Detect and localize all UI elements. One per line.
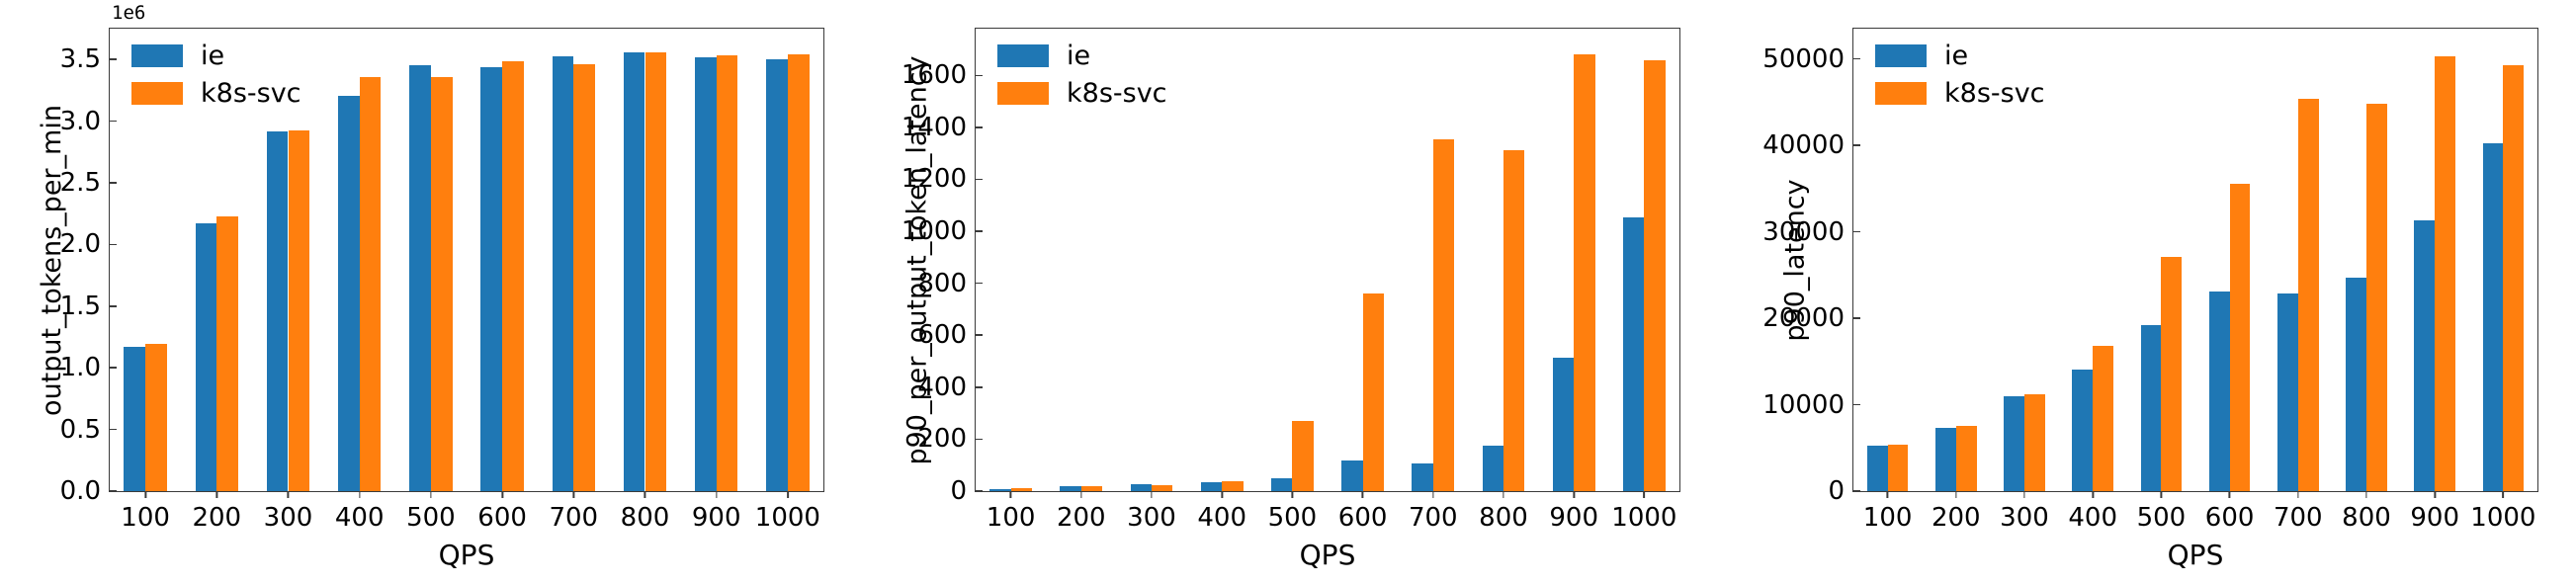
bar-ie-200 [1935,428,1956,491]
x-axis-tick: 300 [2000,491,2049,533]
bar-k8s-svc-700 [1433,139,1454,491]
bar-ie-200 [1060,486,1080,491]
x-axis-tick-mark [215,491,217,498]
legend-item-k8s-svc[interactable]: k8s-svc [131,80,301,107]
bar-ie-600 [2209,292,2230,491]
bar-k8s-svc-800 [2366,104,2387,491]
x-axis-tick-mark [1573,491,1575,498]
x-axis-tick-mark [572,491,574,498]
y-axis-tick: 50000 [1762,44,1853,74]
axes-frame: 0200400600800100012001400160010020030040… [975,28,1680,492]
x-axis-tick: 200 [192,491,241,533]
y-axis-tick: 2.0 [60,229,110,259]
bar-k8s-svc-200 [1081,486,1102,491]
y-axis-tick-label: 0 [950,476,976,506]
y-axis-tick: 1000 [902,216,976,246]
chart-panel-3: p90_latency01000020000300004000050000100… [1716,0,2574,585]
y-axis-tick-label: 200 [917,424,976,454]
y-axis-tick-label: 800 [917,269,976,298]
bar-ie-400 [1201,482,1222,491]
bar-k8s-svc-1000 [788,54,810,491]
x-axis-tick-label: 400 [1197,503,1246,533]
x-axis-tick: 1000 [1611,491,1676,533]
legend-swatch-icon [131,82,183,105]
bar-ie-700 [2277,293,2298,491]
x-axis-tick-label: 300 [1127,503,1176,533]
bar-k8s-svc-700 [2298,99,2319,491]
x-axis-tick-mark [787,491,789,498]
legend-swatch-icon [1875,82,1927,105]
x-axis-tick-mark [1887,491,1889,498]
bar-k8s-svc-100 [1888,445,1909,491]
x-axis-tick: 100 [121,491,170,533]
legend-item-ie[interactable]: ie [131,42,301,69]
x-axis-tick-mark [1221,491,1223,498]
y-axis-tick-label: 1600 [902,60,976,90]
x-axis-tick-mark [644,491,646,498]
bar-ie-800 [2346,278,2366,492]
axes-frame: 1e60.00.51.01.52.02.53.03.51002003004005… [109,28,824,492]
bar-k8s-svc-400 [360,77,382,491]
legend-label: ie [1067,42,1090,69]
legend-label: k8s-svc [1944,80,2045,107]
x-axis-tick-mark [430,491,432,498]
x-axis-tick: 800 [2342,491,2391,533]
y-axis-tick-label: 2.0 [60,229,110,259]
x-axis-tick-mark [359,491,361,498]
y-axis-offset-text: 1e6 [112,2,145,24]
legend-label: k8s-svc [1067,80,1167,107]
legend[interactable]: iek8s-svc [997,42,1167,107]
x-axis-tick: 400 [1197,491,1246,533]
x-axis-tick: 500 [2137,491,2187,533]
y-axis-tick-label: 600 [917,320,976,350]
x-axis-tick-mark [1292,491,1294,498]
chart-panel-1: output_tokens_per_min1e60.00.51.01.52.02… [0,0,858,585]
y-axis-tick: 1600 [902,60,976,90]
plot-area: 1e60.00.51.01.52.02.53.03.51002003004005… [109,28,824,492]
plot-area: 0100002000030000400005000010020030040050… [1852,28,2538,492]
x-axis-tick-mark [716,491,718,498]
x-axis-tick-label: 800 [1479,503,1528,533]
bar-k8s-svc-200 [216,216,238,491]
bar-k8s-svc-500 [2161,257,2182,491]
x-axis-tick: 900 [692,491,741,533]
legend-item-ie[interactable]: ie [997,42,1167,69]
bar-k8s-svc-1000 [1644,60,1665,491]
plot-area: 0200400600800100012001400160010020030040… [975,28,1680,492]
bar-ie-600 [1341,460,1362,491]
legend-label: ie [201,42,224,69]
x-axis-tick-mark [2229,491,2231,498]
bar-k8s-svc-800 [1503,150,1524,491]
x-axis-tick: 300 [1127,491,1176,533]
x-axis-tick-label: 600 [2205,503,2255,533]
x-axis-tick: 200 [1932,491,1981,533]
bar-k8s-svc-800 [645,52,667,491]
legend-swatch-icon [997,82,1049,105]
bar-k8s-svc-100 [1011,488,1032,491]
legend-swatch-icon [997,44,1049,67]
x-axis-tick-label: 900 [692,503,741,533]
y-axis-tick-label: 1.5 [60,292,110,321]
bar-k8s-svc-300 [2024,394,2045,491]
bar-k8s-svc-500 [431,77,453,491]
y-axis-tick-label: 30000 [1762,217,1853,247]
y-axis-label: p90_latency [1775,28,1815,492]
y-axis-label: p90_per_output_token_latency [898,28,937,492]
y-axis-tick: 30000 [1762,217,1853,247]
x-axis-tick-label: 100 [987,503,1036,533]
y-axis-tick: 0.0 [60,476,110,506]
x-axis-tick-mark [2161,491,2163,498]
y-axis-tick-label: 3.0 [60,107,110,136]
y-axis-tick: 10000 [1762,390,1853,420]
bar-ie-900 [695,57,717,491]
x-axis-tick: 700 [1409,491,1458,533]
x-axis-tick: 600 [477,491,527,533]
x-axis-tick-label: 700 [1409,503,1458,533]
y-axis-tick: 20000 [1762,303,1853,333]
x-axis-tick-mark [1362,491,1364,498]
figure-canvas: output_tokens_per_min1e60.00.51.01.52.02… [0,0,2576,585]
x-axis-tick-label: 700 [2274,503,2323,533]
bar-k8s-svc-1000 [2503,65,2524,491]
bar-k8s-svc-700 [573,64,595,491]
bar-k8s-svc-900 [1574,54,1594,491]
y-axis-tick: 1400 [902,113,976,142]
x-axis-tick-label: 100 [1863,503,1913,533]
y-axis-tick: 3.5 [60,44,110,74]
bar-ie-1000 [766,59,788,491]
x-axis-tick: 700 [549,491,598,533]
axes-frame: 0100002000030000400005000010020030040050… [1852,28,2538,492]
y-axis-tick: 400 [917,373,976,402]
legend[interactable]: iek8s-svc [1875,42,2045,107]
bar-k8s-svc-500 [1292,421,1313,491]
y-axis-tick-label: 1400 [902,113,976,142]
x-axis-tick-mark [2365,491,2367,498]
y-axis-tick-label: 1000 [902,216,976,246]
x-axis-tick: 800 [621,491,670,533]
x-axis-tick-label: 100 [121,503,170,533]
x-axis-tick-mark [2092,491,2094,498]
x-axis-tick-mark [1644,491,1646,498]
x-axis-tick: 100 [1863,491,1913,533]
x-axis-tick-label: 500 [1268,503,1318,533]
y-axis-tick: 800 [917,269,976,298]
y-axis-tick-label: 400 [917,373,976,402]
bar-ie-500 [1271,478,1292,491]
y-axis-tick-label: 2.5 [60,168,110,198]
x-axis-tick-mark [2434,491,2436,498]
x-axis-tick: 100 [987,491,1036,533]
bar-ie-100 [124,347,145,491]
bar-ie-900 [1553,358,1574,491]
bar-k8s-svc-600 [2230,184,2251,491]
x-axis-tick: 600 [2205,491,2255,533]
y-axis-tick-label: 3.5 [60,44,110,74]
x-axis-tick: 1000 [755,491,820,533]
bar-k8s-svc-600 [502,61,524,491]
x-axis-tick: 800 [1479,491,1528,533]
y-axis-tick: 3.0 [60,107,110,136]
x-axis-tick-label: 600 [477,503,527,533]
bar-ie-1000 [2483,143,2504,491]
x-axis-tick-mark [501,491,503,498]
y-axis-tick: 1.0 [60,353,110,382]
bar-ie-300 [1131,484,1152,491]
bar-ie-700 [553,56,574,491]
bar-k8s-svc-200 [1956,426,1977,491]
x-axis-tick-mark [1955,491,1957,498]
x-axis-tick-label: 900 [1549,503,1598,533]
bar-ie-100 [989,489,1010,491]
x-axis-tick: 400 [335,491,385,533]
bar-k8s-svc-400 [1222,481,1243,491]
legend-swatch-icon [1875,44,1927,67]
x-axis-tick-label: 1000 [1611,503,1676,533]
y-axis-tick-label: 1200 [902,164,976,194]
bar-ie-200 [196,223,217,491]
x-axis-tick: 200 [1057,491,1106,533]
bar-ie-600 [480,67,502,491]
x-axis-tick-label: 300 [2000,503,2049,533]
y-axis-tick: 600 [917,320,976,350]
y-axis-tick: 2.5 [60,168,110,198]
bar-ie-400 [2072,370,2093,491]
x-axis-tick: 500 [1268,491,1318,533]
y-axis-tick: 0.5 [60,415,110,445]
x-axis-tick: 500 [406,491,456,533]
x-axis-tick-label: 600 [1338,503,1388,533]
x-axis-tick-mark [1151,491,1153,498]
y-axis-tick: 0 [1828,476,1853,506]
y-axis-tick-label: 20000 [1762,303,1853,333]
x-axis-tick-label: 1000 [755,503,820,533]
y-axis-tick-label: 10000 [1762,390,1853,420]
bar-k8s-svc-300 [1152,485,1172,491]
y-axis-tick-label: 0 [1828,476,1853,506]
y-axis-tick-label: 1.0 [60,353,110,382]
bar-k8s-svc-300 [289,130,310,491]
bar-ie-900 [2414,220,2435,491]
x-axis-tick: 900 [1549,491,1598,533]
y-axis-tick: 0 [950,476,976,506]
legend-swatch-icon [131,44,183,67]
x-axis-tick-mark [288,491,290,498]
bar-k8s-svc-900 [2435,56,2455,491]
x-axis-tick-mark [1010,491,1012,498]
bar-ie-400 [338,96,360,491]
legend-item-ie[interactable]: ie [1875,42,2045,69]
x-axis-tick-label: 400 [335,503,385,533]
bar-ie-500 [2141,325,2162,491]
x-axis-tick: 400 [2068,491,2117,533]
x-axis-label: QPS [110,539,823,571]
x-axis-tick-label: 400 [2068,503,2117,533]
x-axis-tick-mark [1432,491,1434,498]
bar-k8s-svc-400 [2093,346,2113,491]
x-axis-tick-label: 200 [192,503,241,533]
x-axis-label: QPS [976,539,1679,571]
bar-ie-800 [624,52,645,491]
bar-k8s-svc-100 [145,344,167,491]
y-axis-tick-label: 0.0 [60,476,110,506]
x-axis-tick-label: 1000 [2470,503,2535,533]
x-axis-label: QPS [1853,539,2537,571]
legend[interactable]: iek8s-svc [131,42,301,107]
x-axis-tick-mark [2297,491,2299,498]
x-axis-tick-mark [144,491,146,498]
x-axis-tick-label: 200 [1057,503,1106,533]
legend-item-k8s-svc[interactable]: k8s-svc [1875,80,2045,107]
y-axis-tick: 200 [917,424,976,454]
bar-ie-500 [409,65,431,491]
bar-ie-1000 [1623,217,1644,491]
legend-label: ie [1944,42,1968,69]
y-axis-tick: 1.5 [60,292,110,321]
x-axis-tick: 900 [2410,491,2459,533]
x-axis-tick-mark [2023,491,2025,498]
bar-ie-300 [2004,396,2024,491]
x-axis-tick-mark [2503,491,2505,498]
x-axis-tick-label: 900 [2410,503,2459,533]
y-axis-tick: 1200 [902,164,976,194]
legend-label: k8s-svc [201,80,301,107]
bar-ie-800 [1483,446,1503,491]
bar-ie-300 [267,131,289,491]
x-axis-tick: 600 [1338,491,1388,533]
x-axis-tick: 700 [2274,491,2323,533]
x-axis-tick-label: 200 [1932,503,1981,533]
y-axis-tick-label: 40000 [1762,130,1853,160]
x-axis-tick: 1000 [2470,491,2535,533]
x-axis-tick-mark [1503,491,1504,498]
bar-k8s-svc-600 [1363,293,1384,491]
y-axis-tick: 40000 [1762,130,1853,160]
y-axis-tick-label: 50000 [1762,44,1853,74]
x-axis-tick-label: 700 [549,503,598,533]
x-axis-tick-label: 800 [621,503,670,533]
bar-ie-100 [1867,446,1888,491]
y-axis-tick-label: 0.5 [60,415,110,445]
x-axis-tick-mark [1080,491,1082,498]
bar-ie-700 [1412,463,1432,491]
x-axis-tick-label: 300 [264,503,313,533]
chart-panel-2: p90_per_output_token_latency020040060080… [858,0,1716,585]
x-axis-tick: 300 [264,491,313,533]
bar-k8s-svc-900 [717,55,738,491]
x-axis-tick-label: 800 [2342,503,2391,533]
legend-item-k8s-svc[interactable]: k8s-svc [997,80,1167,107]
x-axis-tick-label: 500 [406,503,456,533]
x-axis-tick-label: 500 [2137,503,2187,533]
